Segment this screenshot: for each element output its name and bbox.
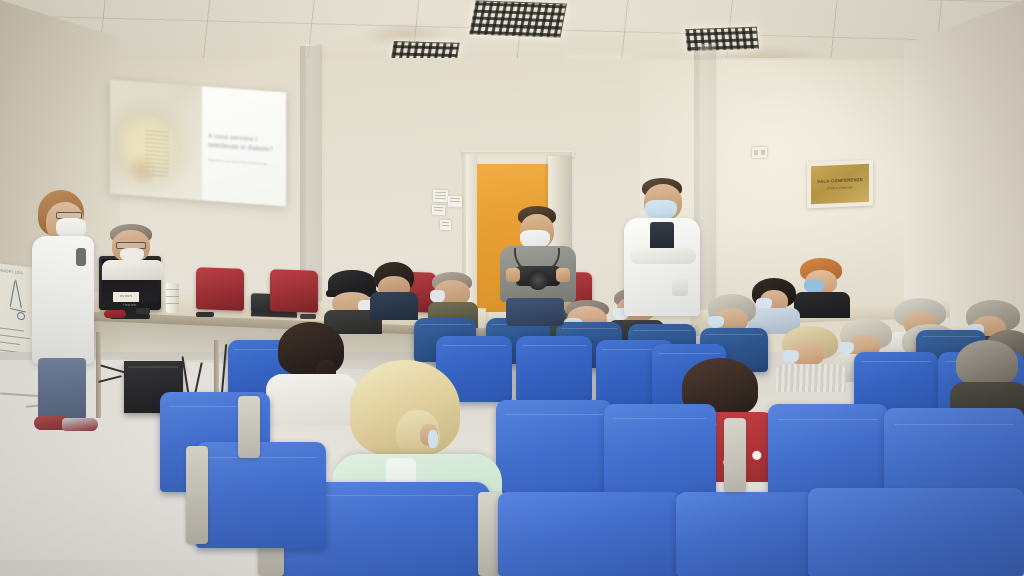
- red-chair[interactable]: [196, 267, 244, 311]
- audience-chair[interactable]: [604, 404, 716, 502]
- desk-object: [300, 314, 316, 319]
- hand: [506, 268, 520, 282]
- torso: [794, 292, 850, 318]
- wall-switch-plate[interactable]: [752, 147, 767, 159]
- photographer: [500, 206, 578, 322]
- wall-notice: [432, 205, 445, 216]
- attendee-bob: [752, 278, 796, 332]
- face-mask: [645, 200, 677, 220]
- plaque-line-2: Pietro Bianchi: [828, 185, 853, 190]
- paper-cups-stack: [166, 283, 179, 313]
- flipchart-ink-circle: [17, 312, 25, 321]
- chair-armrest: [238, 396, 260, 458]
- audience-chair[interactable]: [498, 492, 682, 576]
- hand: [556, 268, 570, 282]
- flipchart-ink: [10, 281, 15, 306]
- slide-title: A cosa servono i telerilevati in diabete…: [208, 132, 281, 155]
- ceiling-light: [469, 0, 567, 37]
- audience-chair[interactable]: [496, 400, 612, 500]
- hair: [956, 340, 1018, 386]
- audience-chair[interactable]: [516, 336, 592, 402]
- flipchart-line: [0, 342, 20, 345]
- plaque-mount: SALA CONFERENZE Pietro Bianchi: [807, 160, 873, 209]
- attendee-darkhair: [372, 262, 416, 318]
- stethoscope: [76, 248, 86, 266]
- slide-text-panel: A cosa servono i telerilevati in diabete…: [202, 86, 286, 206]
- face-mask: [708, 316, 724, 328]
- slide-photo-hand: [126, 151, 157, 187]
- red-chair[interactable]: [270, 269, 318, 313]
- chair-armrest: [186, 446, 208, 544]
- room-plaque: SALA CONFERENZE Pietro Bianchi: [811, 164, 869, 205]
- wall-notice: [448, 196, 462, 208]
- flipchart-line: [0, 328, 24, 332]
- shoe: [62, 418, 98, 431]
- flipchart-line: [0, 335, 30, 340]
- camera-lens: [528, 270, 548, 290]
- flipchart-ink: [15, 280, 22, 308]
- torso: [102, 260, 164, 280]
- jeans: [506, 298, 564, 326]
- projection-screen: A cosa servono i telerilevati in diabete…: [110, 80, 286, 207]
- desk-object: [136, 308, 150, 314]
- desk-object: [196, 312, 214, 317]
- plaque-line-1: SALA CONFERENZE: [817, 177, 863, 184]
- wall-notice: [433, 190, 448, 203]
- flipchart-header: NUOVI LEA: [0, 267, 23, 275]
- inventory-label: INV 08273: [113, 292, 139, 302]
- red-desk-object: [104, 310, 126, 318]
- slide-subtitle: Relazione a cura del servizio di diabeto…: [208, 157, 281, 167]
- face-mask: [839, 342, 854, 354]
- slide-photo: [110, 80, 202, 201]
- audience-chair[interactable]: [196, 442, 326, 548]
- wall-notice: [440, 220, 451, 231]
- attendee-redhair: [798, 258, 844, 316]
- jeans: [38, 358, 86, 420]
- torso-striped: [776, 364, 846, 392]
- coat-pocket: [672, 278, 688, 296]
- seated-man-monitor: [104, 224, 160, 276]
- face-mask-strap: [428, 430, 438, 448]
- crossed-arms: [630, 248, 696, 264]
- torso: [370, 292, 418, 320]
- audience-chair[interactable]: [676, 492, 816, 576]
- attendee-blonde-3: [782, 326, 840, 388]
- conference-room-photo: A cosa servono i telerilevati in diabete…: [0, 0, 1024, 576]
- face-mask: [782, 350, 799, 363]
- presenter-woman: [28, 190, 104, 446]
- audience-chair[interactable]: [808, 488, 1024, 576]
- chair-armrest: [724, 418, 746, 492]
- standing-doctor: [624, 178, 700, 316]
